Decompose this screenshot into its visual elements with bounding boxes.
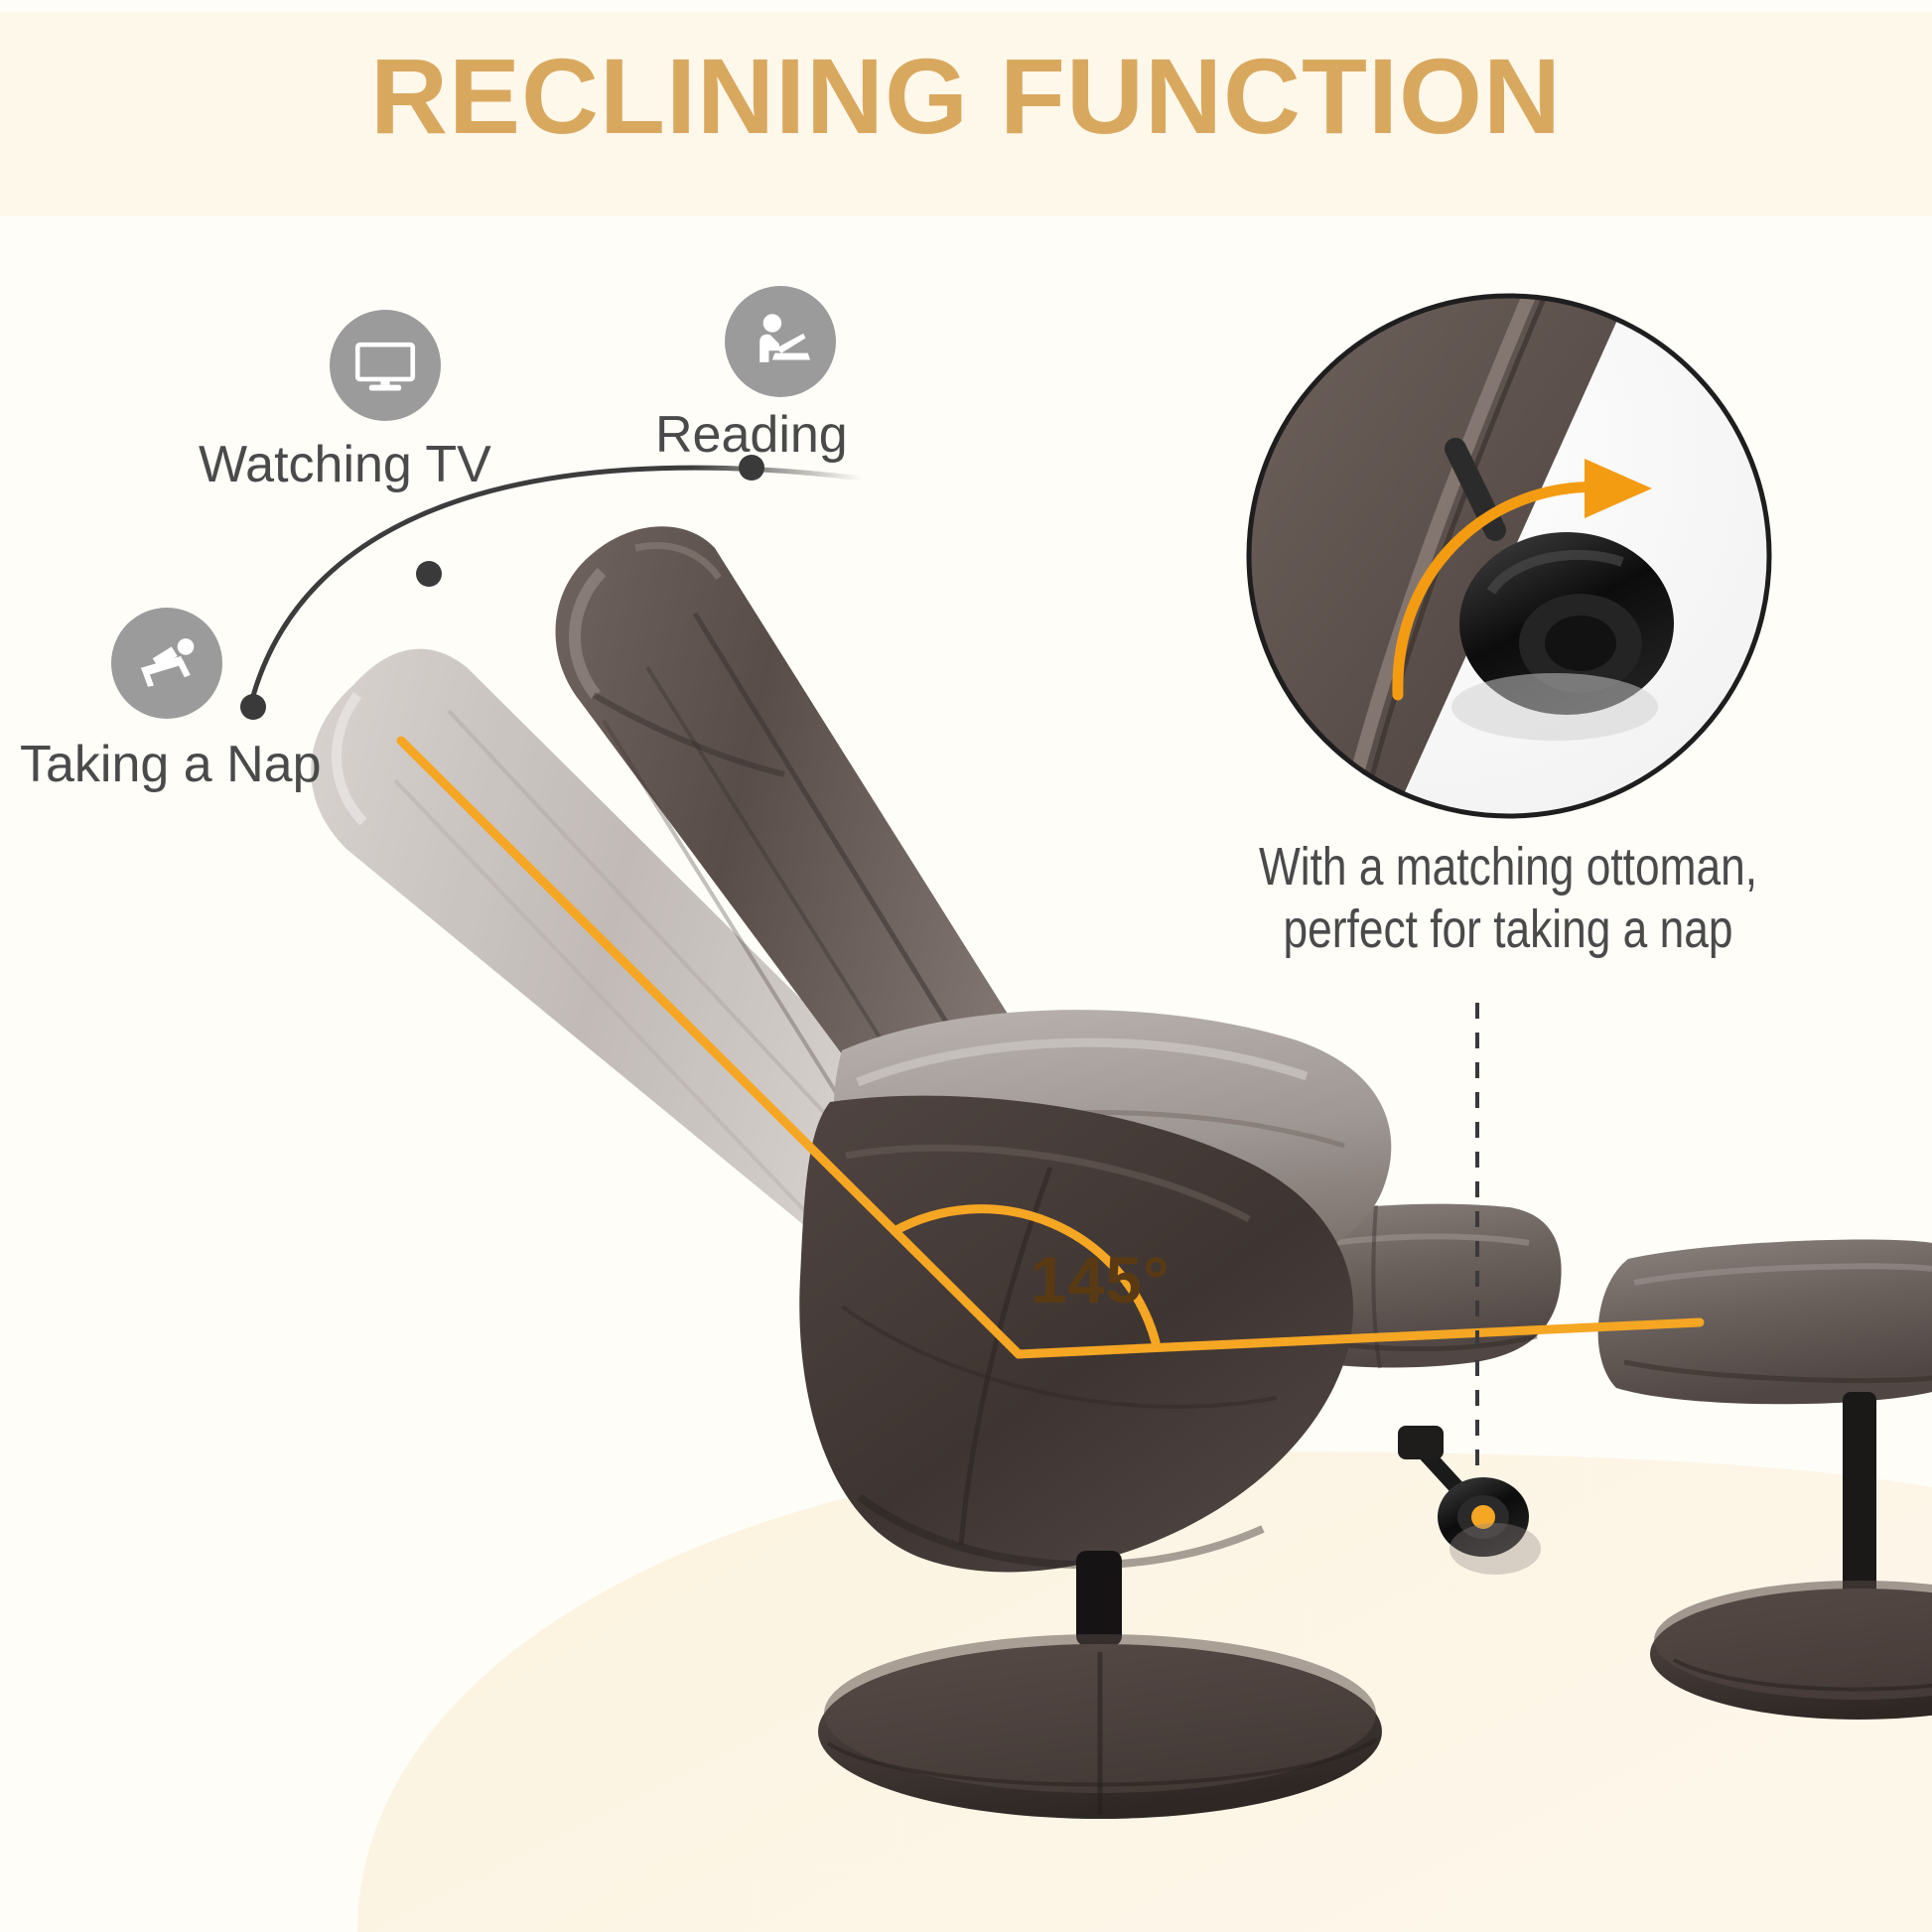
ottoman-caption-line2: perfect for taking a nap [1189,898,1826,961]
product-scene [0,0,1932,1932]
feature-label-taking-a-nap: Taking a Nap [20,735,322,794]
recline-angle-value: 145° [1031,1242,1171,1317]
feature-label-reading: Reading [655,405,848,465]
infographic-stage: RECLINING FUNCTION [0,0,1932,1932]
lounger-icon [111,608,222,719]
recline-lever-inset [1249,296,1769,816]
reading-icon [725,286,836,397]
feature-label-watching-tv: Watching TV [199,435,491,494]
arc-dot-nap [240,694,266,720]
ottoman-caption-line1: With a matching ottoman, [1259,837,1757,897]
tv-icon [330,310,441,421]
arc-dot-tv [416,561,442,587]
ottoman-caption: With a matching ottoman, perfect for tak… [1189,836,1826,960]
